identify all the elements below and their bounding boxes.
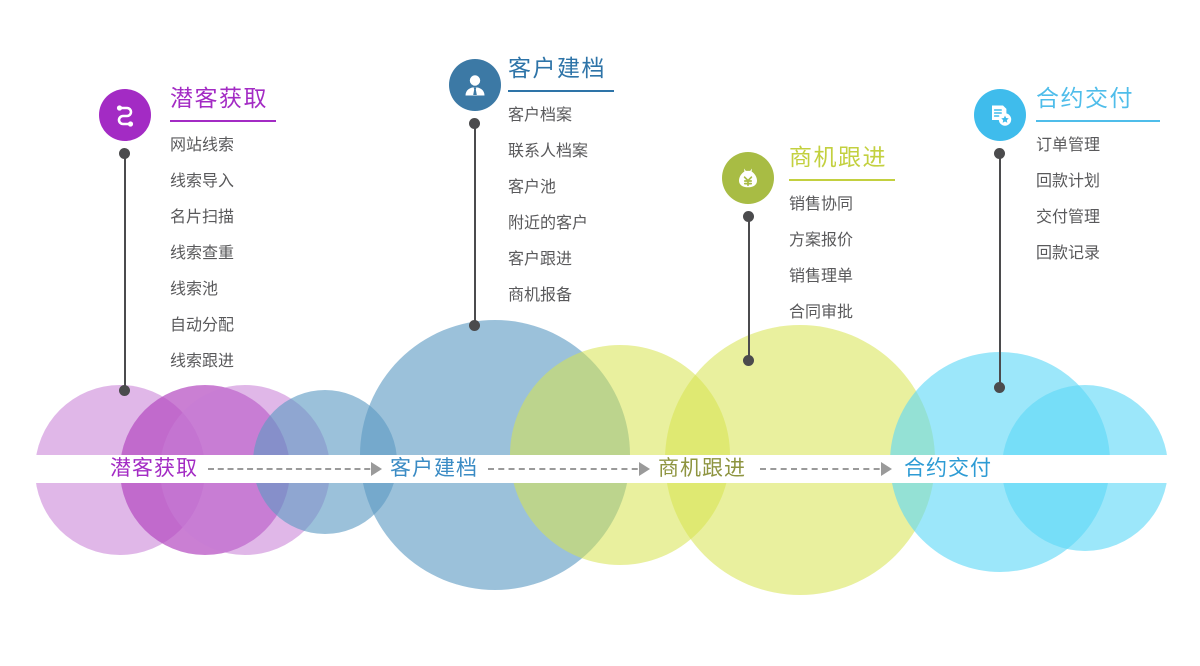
connector-dot-top-opportunity [743,211,754,222]
section-rule-lead [170,120,276,122]
list-item: 线索跟进 [170,344,234,380]
arrow-head-icon [371,462,382,476]
section-title-lead: 潜客获取 [170,84,268,112]
list-item: 网站线索 [170,128,234,164]
list-item: 交付管理 [1036,200,1100,236]
connector-dot-bottom-lead [119,385,130,396]
section-list-lead: 网站线索 线索导入 名片扫描 线索查重 线索池 自动分配 线索跟进 [170,128,234,380]
section-rule-opportunity [789,179,895,181]
money-bag-yen-icon [722,152,774,204]
list-item: 线索查重 [170,236,234,272]
flow-step-label-lead: 潜客获取 [110,455,198,483]
list-item: 合同审批 [789,295,853,331]
connector-dot-bottom-customer [469,320,480,331]
list-item: 联系人档案 [508,134,588,170]
flow-arrow-2 [488,468,648,470]
route-path-icon [99,89,151,141]
flow-step-label-customer: 客户建档 [390,455,478,483]
section-list-contract: 订单管理 回款计划 交付管理 回款记录 [1036,128,1100,272]
dash-line [760,468,890,470]
connector-dot-top-contract [994,148,1005,159]
list-item: 客户池 [508,170,588,206]
dash-line [208,468,380,470]
connector-stem-opportunity [748,218,750,362]
section-title-opportunity: 商机跟进 [789,143,887,171]
section-rule-contract [1036,120,1160,122]
connector-dot-top-lead [119,148,130,159]
flow-arrow-3 [760,468,890,470]
list-item: 商机报备 [508,278,588,314]
section-rule-customer [508,90,614,92]
list-item: 名片扫描 [170,200,234,236]
flow-arrow-1 [208,468,380,470]
list-item: 回款计划 [1036,164,1100,200]
list-item: 销售理单 [789,259,853,295]
connector-stem-customer [474,125,476,328]
flow-step-label-contract: 合约交付 [904,455,992,483]
connector-stem-lead [124,155,126,393]
list-item: 客户跟进 [508,242,588,278]
connector-dot-bottom-opportunity [743,355,754,366]
list-item: 客户档案 [508,98,588,134]
connector-dot-bottom-contract [994,382,1005,393]
arrow-head-icon [881,462,892,476]
document-star-icon [974,89,1026,141]
list-item: 销售协同 [789,187,853,223]
connector-dot-top-customer [469,118,480,129]
diagram-canvas: 潜客获取 网站线索 线索导入 名片扫描 线索查重 线索池 自动分配 线索跟进 客… [0,0,1200,666]
list-item: 线索导入 [170,164,234,200]
list-item: 线索池 [170,272,234,308]
section-title-contract: 合约交付 [1036,84,1134,112]
connector-stem-contract [999,155,1001,390]
list-item: 回款记录 [1036,236,1100,272]
list-item: 附近的客户 [508,206,588,242]
section-title-customer: 客户建档 [508,54,606,82]
flow-steps-row: 潜客获取 客户建档 商机跟进 合约交付 [0,455,1200,483]
section-list-opportunity: 销售协同 方案报价 销售理单 合同审批 [789,187,853,331]
list-item: 自动分配 [170,308,234,344]
user-profile-icon [449,59,501,111]
dash-line [488,468,648,470]
list-item: 方案报价 [789,223,853,259]
section-list-customer: 客户档案 联系人档案 客户池 附近的客户 客户跟进 商机报备 [508,98,588,314]
flow-step-label-opportunity: 商机跟进 [658,455,746,483]
arrow-head-icon [639,462,650,476]
list-item: 订单管理 [1036,128,1100,164]
